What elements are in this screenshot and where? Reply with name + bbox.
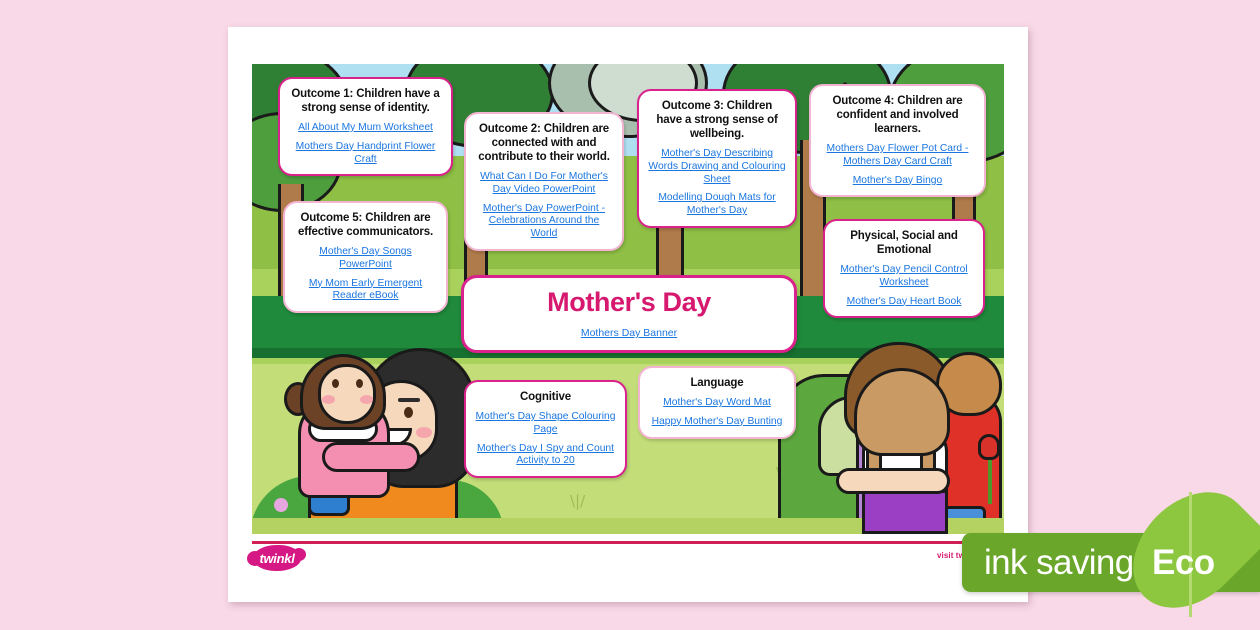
hug-arm	[836, 468, 950, 494]
card-heading: Physical, Social and Emotional	[834, 229, 974, 257]
card-cognitive[interactable]: Cognitive Mother's Day Shape Colouring P…	[464, 380, 627, 478]
card-link-0[interactable]: Mothers Day Flower Pot Card - Mothers Da…	[820, 143, 975, 169]
mother-arm	[322, 442, 420, 472]
daughter-eye-left	[332, 379, 339, 388]
daughter-eye-right	[356, 379, 363, 388]
card-outcome-2[interactable]: Outcome 2: Children are connected with a…	[464, 112, 624, 251]
card-link-1[interactable]: Mother's Day Heart Book	[834, 296, 974, 309]
card-heading: Language	[649, 376, 785, 390]
card-link-1[interactable]: Mother's Day I Spy and Count Activity to…	[475, 443, 616, 469]
mother-cheek	[416, 427, 432, 438]
eco-badge-word: Eco	[1152, 540, 1215, 585]
card-physical-social-emotional[interactable]: Physical, Social and Emotional Mother's …	[823, 219, 985, 318]
card-heading: Outcome 4: Children are confident and in…	[820, 94, 975, 136]
card-link-1[interactable]: Modelling Dough Mats for Mother's Day	[648, 192, 786, 218]
card-link-1[interactable]: Mother's Day Bingo	[820, 175, 975, 188]
card-link-0[interactable]: Mother's Day Describing Words Drawing an…	[648, 148, 786, 186]
card-link-0[interactable]: Mother's Day Word Mat	[649, 397, 785, 410]
logo-text: twinkl	[253, 545, 301, 571]
worksheet-page: \|/ \|/ \|/	[228, 27, 1028, 602]
card-link-0[interactable]: Mother's Day Pencil Control Worksheet	[834, 264, 974, 290]
grass-tuft-3: \|/	[570, 494, 585, 509]
mother-eye	[404, 407, 413, 418]
card-heading: Outcome 3: Children have a strong sense …	[648, 99, 786, 141]
screenshot-stage: \|/ \|/ \|/	[0, 0, 1260, 630]
card-link-0[interactable]: What Can I Do For Mother's Day Video Pow…	[475, 171, 613, 197]
footer-divider	[252, 541, 1004, 544]
twinkl-logo[interactable]: twinkl	[253, 545, 301, 571]
card-link-1[interactable]: Mothers Day Handprint Flower Craft	[289, 141, 442, 167]
card-heading: Outcome 5: Children are effective commun…	[294, 211, 437, 239]
daughter-cheek-r	[360, 395, 373, 404]
card-link-1[interactable]: My Mom Early Emergent Reader eBook	[294, 278, 437, 304]
card-link-0[interactable]: Mother's Day Songs PowerPoint	[294, 246, 437, 272]
daughter-face	[318, 364, 376, 424]
illustration-family-hug	[770, 334, 1004, 534]
card-link-0[interactable]: All About My Mum Worksheet	[289, 122, 442, 135]
card-language[interactable]: Language Mother's Day Word Mat Happy Mot…	[638, 366, 796, 439]
card-heading: Outcome 2: Children are connected with a…	[475, 122, 613, 164]
card-outcome-3[interactable]: Outcome 3: Children have a strong sense …	[637, 89, 797, 228]
illustration-mother-and-daughter	[256, 324, 476, 534]
rose-bloom	[978, 434, 1000, 460]
eco-badge-label: ink saving	[984, 540, 1134, 585]
card-heading: Outcome 1: Children have a strong sense …	[289, 87, 442, 115]
girl-hair	[854, 368, 950, 456]
mother-brow	[398, 398, 420, 402]
card-heading: Cognitive	[475, 390, 616, 404]
title-card-link[interactable]: Mothers Day Banner	[581, 327, 677, 339]
card-link-1[interactable]: Happy Mother's Day Bunting	[649, 416, 785, 429]
card-link-1[interactable]: Mother's Day PowerPoint - Celebrations A…	[475, 203, 613, 241]
flower-1	[274, 498, 288, 512]
card-outcome-5[interactable]: Outcome 5: Children are effective commun…	[283, 201, 448, 313]
card-outcome-1[interactable]: Outcome 1: Children have a strong sense …	[278, 77, 453, 176]
card-title-mothers-day[interactable]: Mother's Day Mothers Day Banner	[461, 275, 797, 353]
card-outcome-4[interactable]: Outcome 4: Children are confident and in…	[809, 84, 986, 197]
daughter-cheek-l	[322, 395, 335, 404]
card-link-0[interactable]: Mother's Day Shape Colouring Page	[475, 411, 616, 437]
girl-skirt	[862, 490, 948, 534]
page-title: Mother's Day	[547, 289, 711, 316]
